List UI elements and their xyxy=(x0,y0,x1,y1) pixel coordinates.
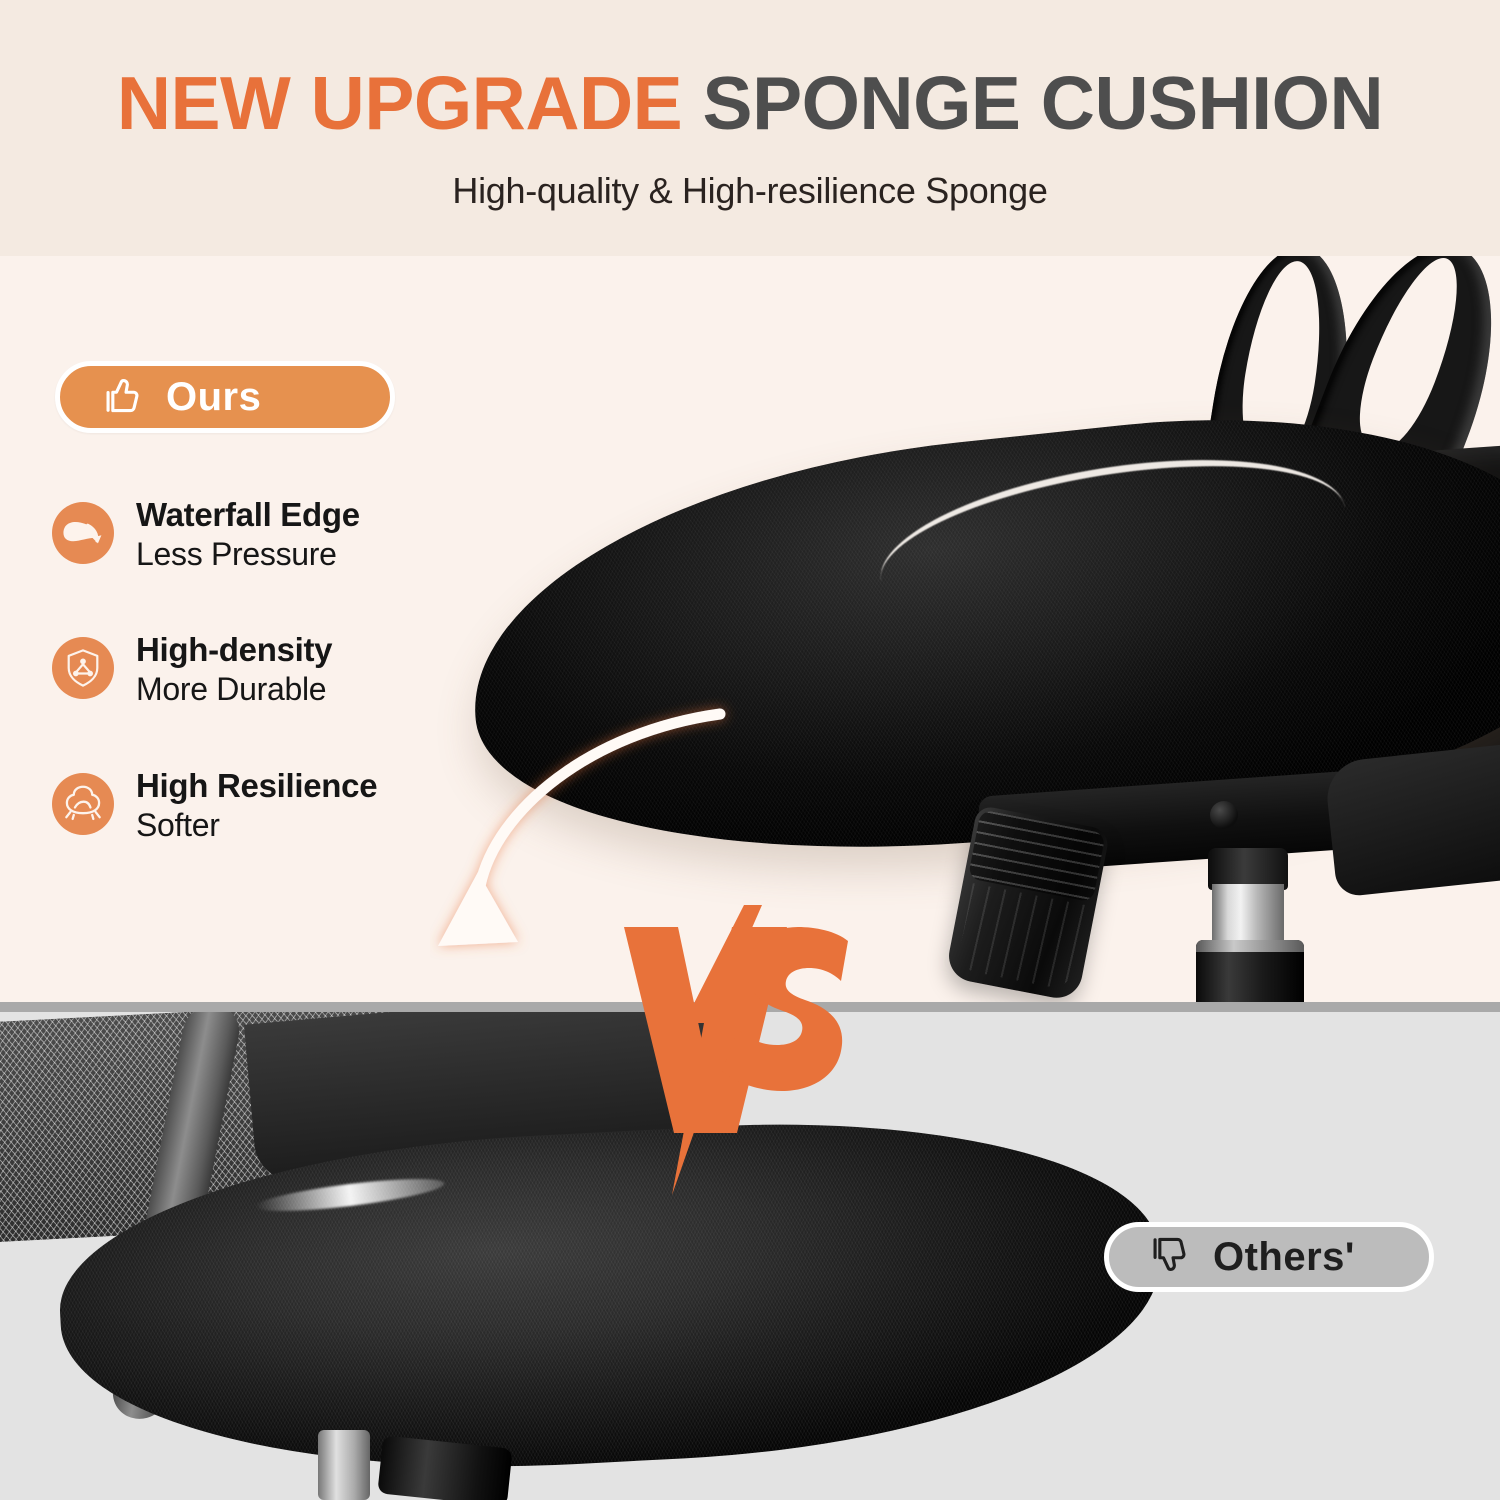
thumbs-down-icon xyxy=(1147,1233,1191,1282)
thumbs-up-icon xyxy=(100,373,144,422)
feature-subtitle: Less Pressure xyxy=(136,535,360,573)
feature-title: High Resilience xyxy=(136,767,377,806)
mechanism-bolt xyxy=(1210,801,1238,829)
waterfall-edge-icon xyxy=(52,502,114,564)
title-rest: SPONGE CUSHION xyxy=(682,61,1383,145)
sponge-cushion-icon xyxy=(52,773,114,835)
feature-list: Waterfall Edge Less Pressure High-densit… xyxy=(52,496,522,902)
feature-subtitle: More Durable xyxy=(136,670,332,708)
gas-cylinder-chrome-shaft xyxy=(1212,884,1284,944)
scene-divider xyxy=(0,1002,1500,1012)
gas-cylinder-body xyxy=(1196,940,1304,1005)
ours-badge-label: Ours xyxy=(166,375,261,420)
feature-item-waterfall-edge: Waterfall Edge Less Pressure xyxy=(52,496,522,573)
others-chrome-shaft xyxy=(318,1430,370,1500)
feature-item-high-resilience: High Resilience Softer xyxy=(52,767,522,844)
title-highlight: NEW UPGRADE xyxy=(117,61,682,145)
others-badge[interactable]: Others' xyxy=(1104,1222,1434,1292)
product-comparison-infographic: NEW UPGRADE SPONGE CUSHION High-quality … xyxy=(0,0,1500,1500)
feature-item-high-density: High-density More Durable xyxy=(52,631,522,708)
feature-title: High-density xyxy=(136,631,332,670)
header-band: NEW UPGRADE SPONGE CUSHION High-quality … xyxy=(0,0,1500,256)
ours-badge[interactable]: Ours xyxy=(55,361,395,433)
feature-title: Waterfall Edge xyxy=(136,496,360,535)
others-badge-label: Others' xyxy=(1213,1235,1355,1280)
page-title: NEW UPGRADE SPONGE CUSHION xyxy=(0,66,1500,141)
mechanism-right-housing xyxy=(1324,739,1500,897)
page-subtitle: High-quality & High-resilience Sponge xyxy=(0,170,1500,212)
feature-subtitle: Softer xyxy=(136,806,377,844)
shield-molecule-icon xyxy=(52,637,114,699)
